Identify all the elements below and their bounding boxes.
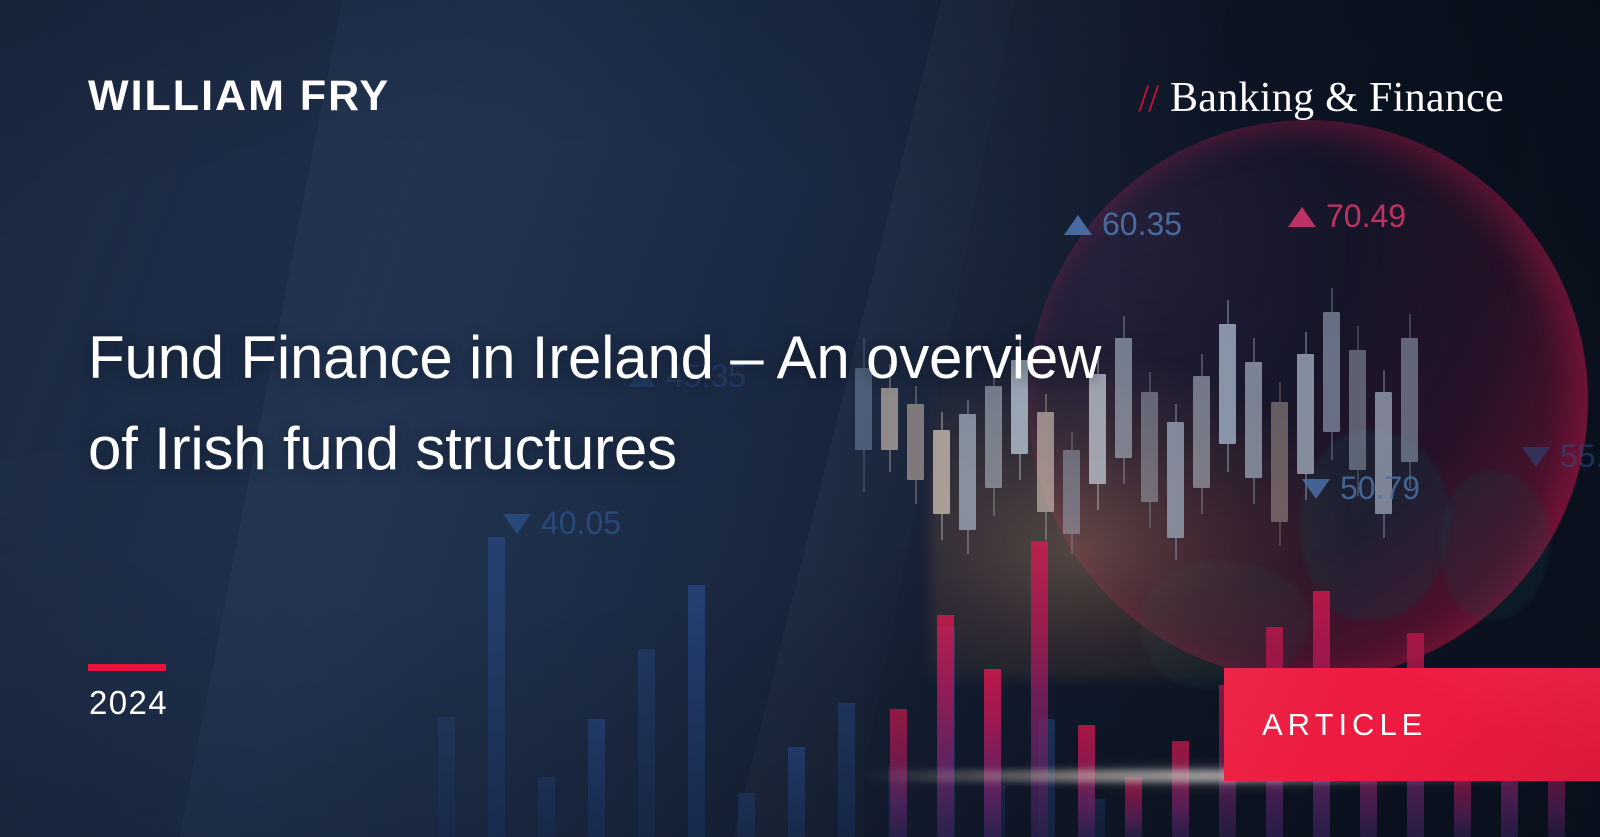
double-slash-icon: // — [1138, 76, 1158, 121]
page-title: Fund Finance in Ireland – An overview of… — [88, 312, 1118, 494]
william-fry-logo[interactable]: WILLIAM FRY — [88, 72, 390, 121]
status-badge: ARTICLE — [1262, 668, 1427, 781]
triangle-down-icon — [1522, 447, 1550, 467]
ticker-value: 70.49 — [1326, 198, 1406, 235]
ticker-readout-t4: 40.05 — [503, 505, 621, 542]
triangle-up-icon — [1288, 207, 1316, 227]
triangle-up-icon — [1064, 215, 1092, 235]
ticker-value: 40.05 — [541, 505, 621, 542]
content-type-badge[interactable]: ARTICLE — [1224, 668, 1600, 781]
ticker-value: 55.2 — [1560, 438, 1600, 475]
ticker-value: 60.35 — [1102, 206, 1182, 243]
publication-year: 2024 — [89, 684, 168, 722]
triangle-down-icon — [1302, 479, 1330, 499]
ticker-readout-t6: 55.2 — [1522, 438, 1600, 475]
ticker-readout-t1: 60.35 — [1064, 206, 1182, 243]
ticker-readout-t3: 50.79 — [1302, 470, 1420, 507]
ticker-readout-t2: 70.49 — [1288, 198, 1406, 235]
article-hero-banner: 60.3570.4950.7940.0545.3555.2 WILLIAM FR… — [0, 0, 1600, 837]
practice-area-label: // Banking & Finance — [1138, 74, 1504, 122]
triangle-down-icon — [503, 514, 531, 534]
red-accent-rule — [88, 664, 166, 671]
practice-area-text: Banking & Finance — [1170, 74, 1504, 122]
ticker-value: 50.79 — [1340, 470, 1420, 507]
